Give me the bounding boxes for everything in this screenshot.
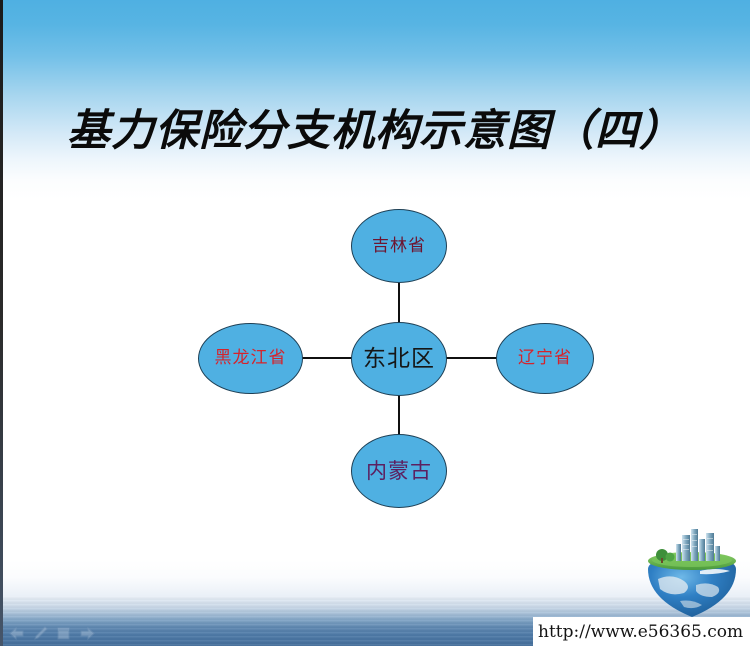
diagram-node-heilongjiang-label: 黑龙江省 [215,350,287,367]
watermark-url-bar: http://www.e56365.com [533,617,750,646]
back-arrow-icon[interactable] [8,626,25,641]
edge-center-to-top [398,281,400,326]
diagram-node-inner-mongolia[interactable]: 内蒙古 [351,434,447,508]
org-diagram: 吉林省 黑龙江省 东北区 辽宁省 内蒙古 [0,0,750,646]
pen-icon[interactable] [33,626,48,641]
edge-center-to-left [299,357,354,359]
diagram-node-inner-mongolia-label: 内蒙古 [366,461,432,482]
slideshow-toolbar[interactable] [8,622,108,644]
diagram-node-northeast-region[interactable]: 东北区 [351,322,447,396]
diagram-node-jilin[interactable]: 吉林省 [351,209,447,283]
watermark-url-text: http://www.e56365.com [533,622,743,642]
diagram-node-jilin-label: 吉林省 [372,238,426,255]
diagram-node-liaoning-label: 辽宁省 [518,350,572,367]
edge-center-to-bottom [398,393,400,438]
page-icon[interactable] [56,626,71,641]
edge-center-to-right [444,357,499,359]
diagram-node-heilongjiang[interactable]: 黑龙江省 [198,323,303,394]
diagram-node-liaoning[interactable]: 辽宁省 [496,323,594,394]
globe-city-icon [640,527,744,619]
forward-arrow-icon[interactable] [79,626,96,641]
diagram-node-northeast-region-label: 东北区 [363,348,435,371]
slide-canvas: 基力保险分支机构示意图（四） 吉林省 黑龙江省 东北区 辽宁省 内蒙古 [0,0,750,646]
